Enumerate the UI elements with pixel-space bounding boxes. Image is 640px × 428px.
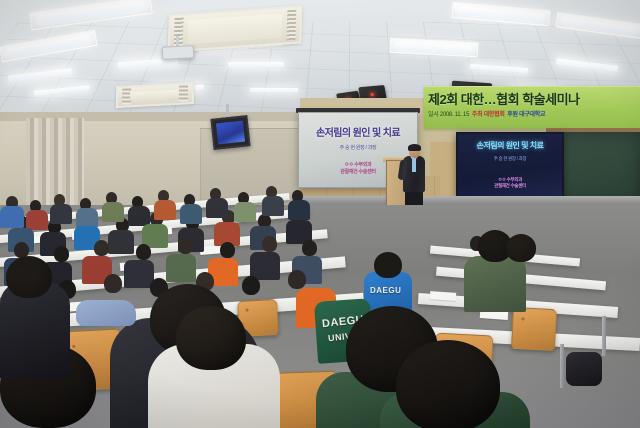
audience-person-body [0, 206, 24, 228]
audience-person [136, 244, 151, 260]
ceiling-light-fixture [228, 62, 284, 67]
banner-subtitle-host: 주최 대한협회 [472, 112, 505, 118]
draped-jacket-on-desk [76, 300, 136, 326]
lecture-hall-photograph: 제2회 대한…협회 학술세미나 일시 2008. 11. 15 주최 대한협회 … [0, 0, 640, 428]
desk-leg [560, 344, 564, 388]
desk-leg [602, 316, 606, 356]
speaker-hair [408, 144, 421, 151]
stage-front-edge [300, 196, 640, 203]
audience-person [220, 242, 235, 258]
secondary-slide-footer-line2: 관절재건 수술센터 [476, 183, 544, 189]
ceiling-ac-vent [116, 82, 194, 108]
jacket-text-blue: DAEGU [370, 286, 401, 295]
banner-subtitle: 일시 2008. 11. 15 주최 대한협회 후원 대구대학교 [428, 109, 640, 118]
banner-subtitle-date: 일시 2008. 11. 15 [428, 112, 469, 118]
audience-person [54, 246, 69, 262]
secondary-slide-subtitle: 주 승 현 원장 / 과장 [461, 156, 559, 162]
audience-person [242, 276, 260, 295]
secondary-slide-title: 손저림의 원인 및 치료 [461, 140, 559, 151]
audience-person [288, 270, 306, 289]
slide-subtitle: 주 승 현 원장 / 과장 [305, 144, 411, 151]
audience-person [94, 240, 109, 256]
handout-paper [430, 291, 456, 301]
audience-person-head [374, 252, 402, 278]
banner-title: 제2회 대한…협회 학술세미나 [428, 89, 640, 108]
ceiling-projector [162, 45, 195, 60]
audience-person-body [50, 204, 72, 224]
ceiling-light-fixture [250, 88, 298, 92]
speaker-tie [412, 158, 416, 172]
audience-person-body [166, 254, 196, 282]
audience-person-body [154, 200, 176, 220]
audience-person-body [26, 210, 48, 230]
secondary-display-screen: 손저림의 원인 및 치료 주 승 현 원장 / 과장 ㅇㅇ 수부외과 관절재건 … [456, 132, 564, 198]
secondary-slide-footer: ㅇㅇ 수부외과 관절재건 수술센터 [476, 177, 544, 189]
audience-person [104, 274, 122, 293]
slide-title: 손저림의 원인 및 치료 [305, 124, 411, 139]
audience-person [262, 236, 277, 252]
audience-person-body [102, 202, 124, 222]
audience-person-body [288, 200, 310, 220]
audience-person-body [128, 206, 150, 226]
audience-person-body [76, 208, 98, 228]
audience-person-body [206, 198, 228, 218]
audience-person [178, 238, 193, 254]
audience-person-body [234, 202, 256, 222]
audience-person-body [180, 204, 202, 224]
lcd-monitor-screen [216, 121, 245, 145]
ceiling-lcd-monitor [210, 115, 250, 150]
lecture-chair[interactable] [511, 307, 557, 351]
audience-person [302, 240, 317, 256]
audience-person-body [108, 230, 134, 254]
audience-person-body [262, 196, 284, 216]
backpack-under-desk [566, 352, 602, 386]
conference-banner: 제2회 대한…협회 학술세미나 일시 2008. 11. 15 주최 대한협회 … [424, 86, 640, 129]
banner-subtitle-sponsor: 후원 대구대학교 [507, 112, 545, 118]
